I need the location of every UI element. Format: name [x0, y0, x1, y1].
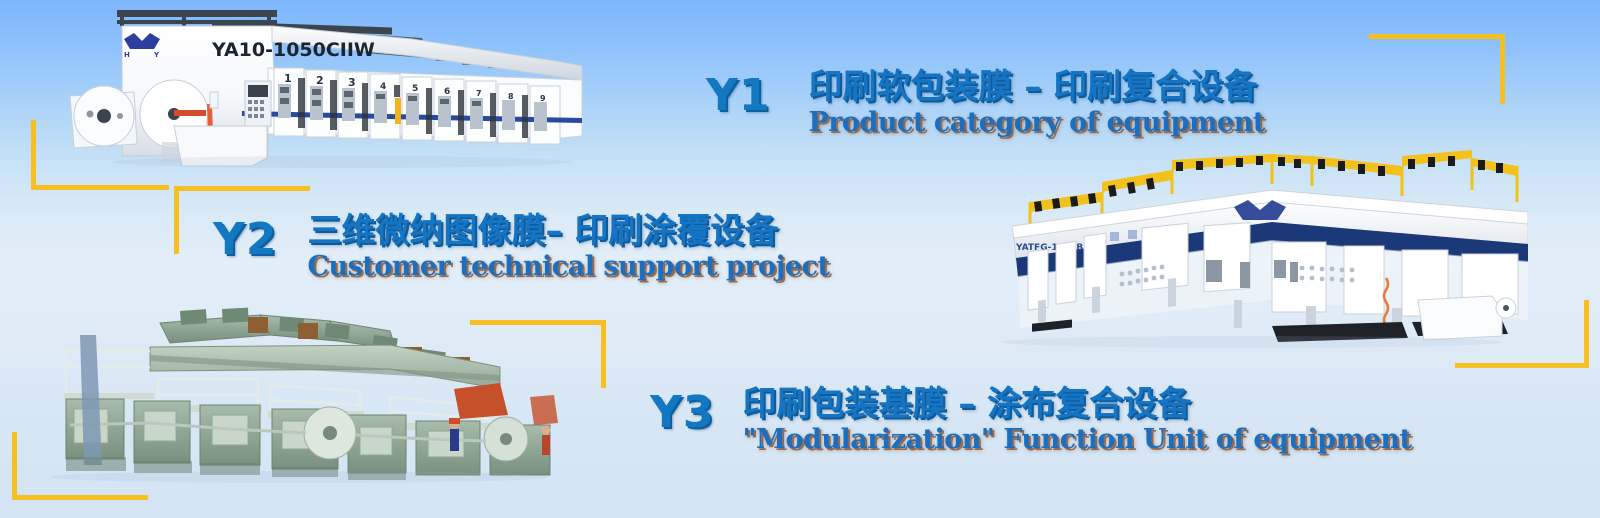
bracket-2-vertical	[174, 186, 179, 254]
bracket-4-vertical	[601, 320, 606, 388]
text-row-y3: Y3 印刷包装基膜 – 涂布复合设备 "Modularization" Func…	[650, 387, 1412, 454]
bracket-1-horizontal	[31, 185, 169, 190]
bracket-5-horizontal	[1455, 363, 1589, 368]
row-tag-y1: Y1	[706, 74, 770, 118]
machine-image-base-film-coating-line	[30, 305, 575, 485]
bracket-6-vertical	[12, 432, 17, 500]
row-tag-y3: Y3	[650, 391, 714, 435]
row-english-y2: Customer technical support project	[307, 253, 829, 281]
worker-figure	[542, 426, 551, 456]
row-chinese-y2: 三维微纳图像膜– 印刷涂覆设备	[307, 214, 829, 250]
svg-text:9: 9	[540, 94, 546, 103]
svg-text:5: 5	[412, 84, 418, 94]
bracket-4-horizontal	[470, 320, 606, 325]
svg-text:2: 2	[316, 74, 324, 87]
bracket-3-horizontal	[1369, 34, 1505, 39]
machine-model-label-2: YATFG-1650BⅡ	[1015, 243, 1089, 253]
row-chinese-y3: 印刷包装基膜 – 涂布复合设备	[742, 387, 1411, 423]
svg-text:4: 4	[380, 82, 386, 92]
text-row-y2: Y2 三维微纳图像膜– 印刷涂覆设备 Customer technical su…	[213, 214, 830, 281]
svg-text:6: 6	[444, 87, 450, 97]
equipment-banner: H Y YA10-1050CIIW 123 45 67 89	[0, 0, 1600, 518]
worker-figure	[449, 418, 460, 451]
bracket-2-horizontal	[174, 186, 310, 191]
row-tag-y2: Y2	[213, 218, 277, 262]
svg-text:Y: Y	[153, 51, 160, 59]
svg-text:H: H	[124, 51, 130, 59]
svg-text:1: 1	[284, 72, 292, 85]
machine-image-dry-lamination-coating-machine: YATFG-1650BⅡ	[972, 150, 1528, 350]
svg-text:7: 7	[476, 89, 482, 98]
svg-text:8: 8	[508, 92, 514, 101]
machine-model-label-1: YA10-1050CIIW	[211, 39, 375, 61]
svg-text:3: 3	[348, 76, 356, 89]
bracket-3-vertical	[1500, 34, 1505, 104]
row-english-y1: Product category of equipment	[808, 109, 1264, 137]
bracket-1-vertical	[31, 120, 36, 190]
bracket-5-vertical	[1584, 300, 1589, 368]
machine-image-rotogravure-printing-press: H Y YA10-1050CIIW 123 45 67 89	[62, 6, 592, 176]
bracket-6-horizontal	[12, 495, 148, 500]
row-english-y3: "Modularization" Function Unit of equipm…	[742, 426, 1411, 454]
text-row-y1: Y1 印刷软包装膜 – 印刷复合设备 Product category of e…	[706, 70, 1265, 137]
row-chinese-y1: 印刷软包装膜 – 印刷复合设备	[808, 70, 1264, 106]
